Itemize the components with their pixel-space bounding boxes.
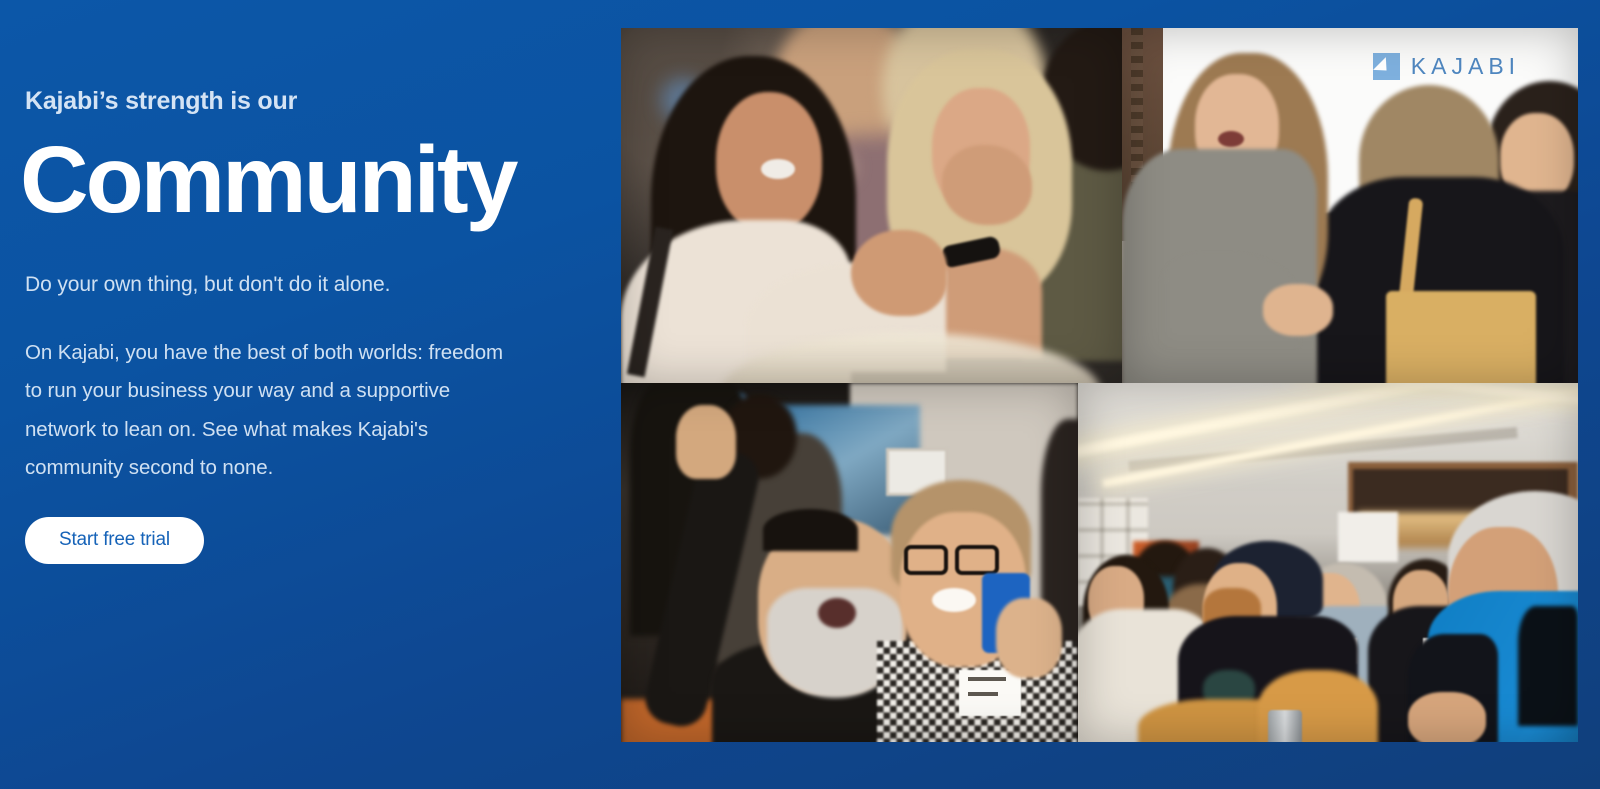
decorative-shape <box>932 588 976 612</box>
decorative-shape <box>1408 692 1486 742</box>
page-title: Community <box>20 129 555 232</box>
hero-copy-column: Kajabi’s strength is our Community Do yo… <box>25 86 555 564</box>
decorative-shape <box>1338 512 1398 562</box>
decorative-shape <box>904 545 948 575</box>
community-hero-section: Kajabi’s strength is our Community Do yo… <box>0 0 1600 789</box>
name-tag-line <box>968 677 1006 681</box>
decorative-shape <box>851 230 947 316</box>
kajabi-logo-text: KAJABI <box>1411 53 1520 80</box>
collage-photo-top-left <box>621 28 1122 383</box>
hero-body-copy: On Kajabi, you have the best of both wor… <box>25 334 505 487</box>
collage-photo-bottom-left <box>621 383 1078 742</box>
name-tag-line <box>968 692 998 696</box>
kajabi-logomark-icon <box>1373 53 1400 80</box>
decorative-shape <box>676 405 736 479</box>
decorative-shape <box>1518 606 1578 726</box>
hero-lede: Do your own thing, but don't do it alone… <box>25 270 555 300</box>
photo-scene: KAJABI <box>1122 28 1578 383</box>
collage-photo-bottom-right <box>1078 383 1578 742</box>
kajabi-logo: KAJABI <box>1373 53 1520 80</box>
hero-eyebrow: Kajabi’s strength is our <box>25 86 555 117</box>
decorative-shape <box>818 598 856 628</box>
decorative-shape <box>996 598 1062 678</box>
decorative-shape <box>1386 291 1536 383</box>
photo-scene <box>1078 383 1578 742</box>
photo-collage: KAJABI <box>621 28 1578 742</box>
photo-scene <box>621 28 1122 383</box>
start-free-trial-button[interactable]: Start free trial <box>25 517 204 564</box>
decorative-shape <box>763 509 858 551</box>
photo-scene <box>621 383 1078 742</box>
decorative-shape <box>1263 284 1333 336</box>
collage-photo-top-right: KAJABI <box>1122 28 1578 383</box>
decorative-shape <box>1268 710 1302 742</box>
decorative-shape <box>1218 131 1244 147</box>
decorative-shape <box>942 145 1032 225</box>
decorative-shape <box>955 545 999 575</box>
